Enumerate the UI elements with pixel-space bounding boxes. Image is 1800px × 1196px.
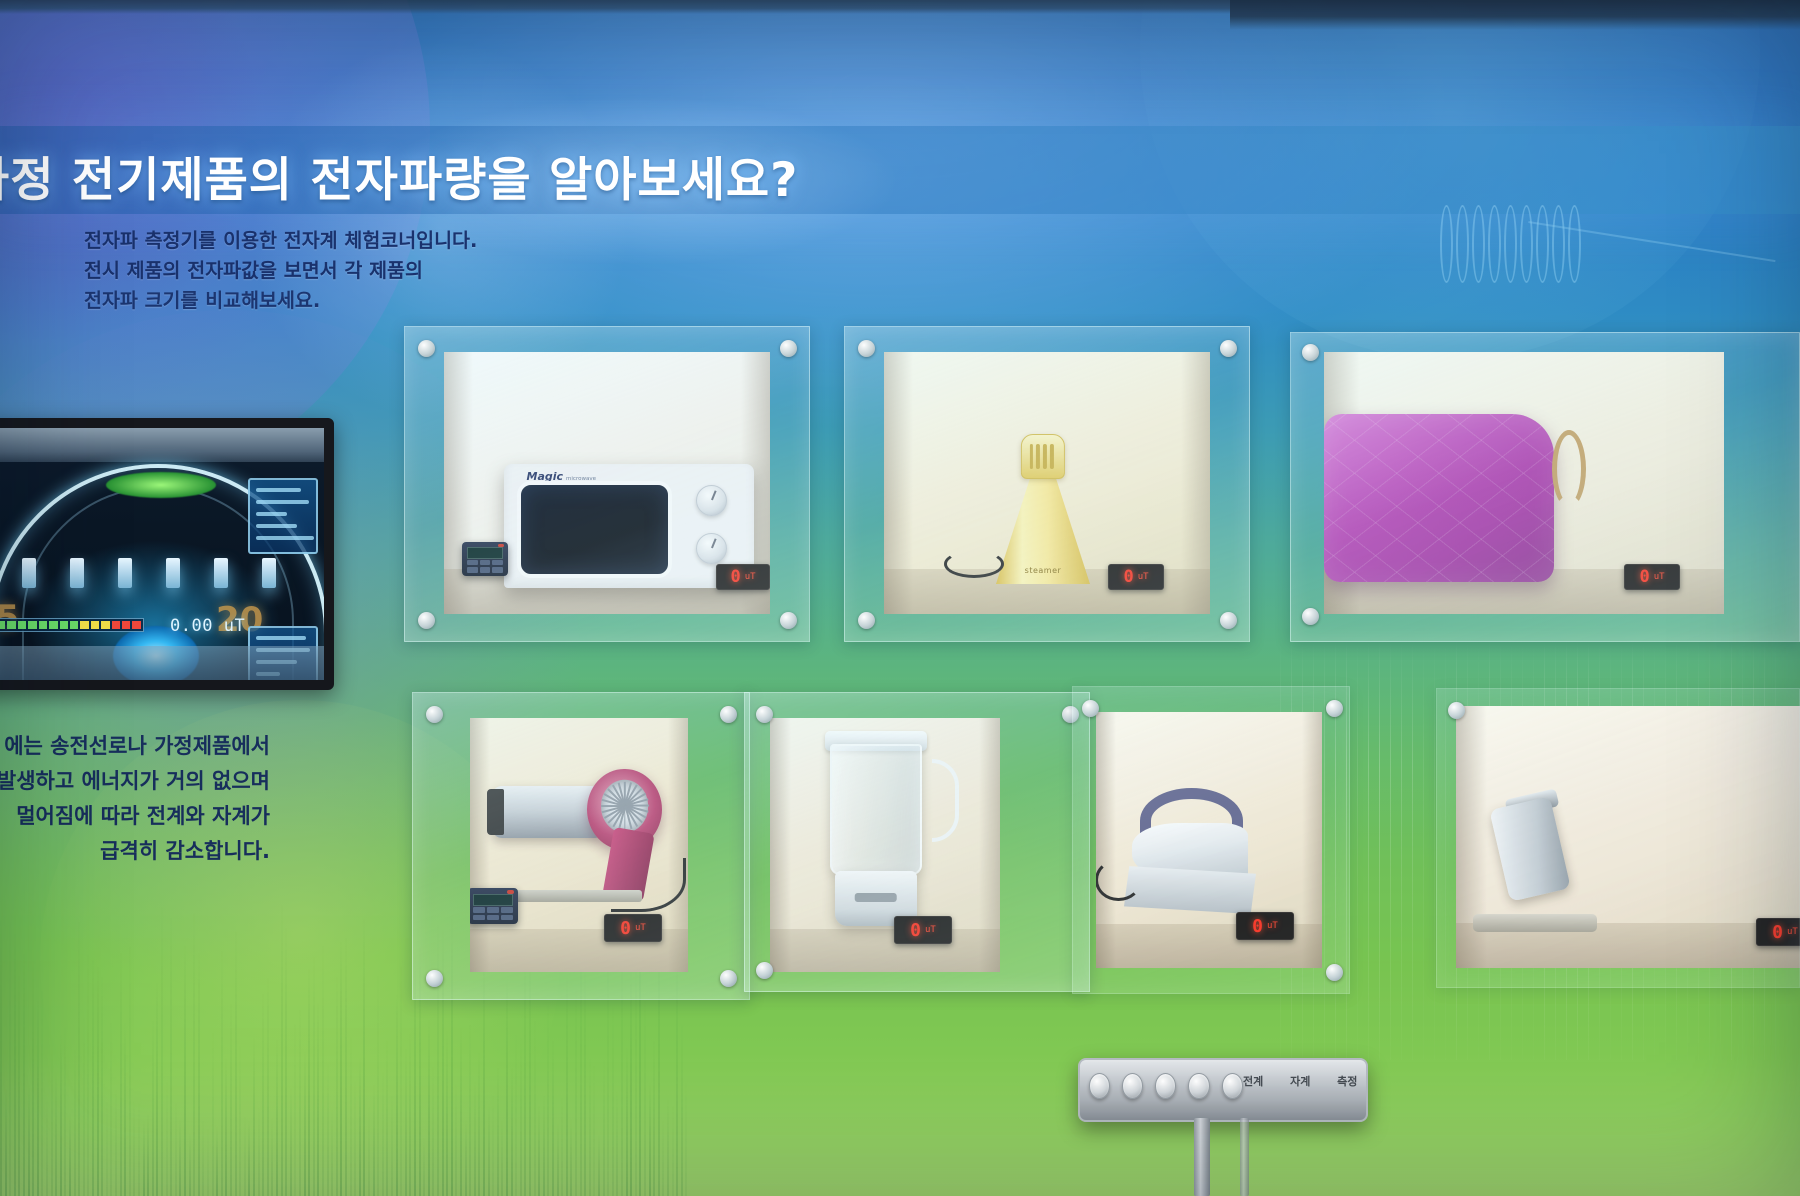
panel-bolt — [418, 340, 435, 357]
panel-bolt — [756, 706, 773, 723]
led-meter-shaver: 0 uT — [1756, 918, 1800, 946]
panel-bolt — [1302, 608, 1319, 625]
led-unit: uT — [925, 925, 936, 935]
note-line-1: 에는 송전선로나 가정제품에서 — [0, 729, 270, 764]
panel-bolt — [780, 340, 797, 357]
led-unit: uT — [1267, 921, 1278, 931]
intro-text: 전자파 측정기를 이용한 전자계 체험코너입니다. 전시 제품의 전자파값을 보… — [84, 226, 477, 316]
led-meter-blender: 0 uT — [894, 916, 952, 944]
niche-purple-bag: 0 uT — [1324, 352, 1724, 614]
panel-bolt — [1302, 344, 1319, 361]
monitor-screen: 25 20 0.00 uT — [0, 428, 324, 680]
led-unit: uT — [1138, 572, 1149, 582]
led-value: 0 — [1772, 922, 1783, 943]
led-value: 0 — [620, 918, 631, 939]
monitor-level-bar — [0, 618, 144, 632]
shaver-body — [1489, 796, 1571, 901]
console-label-2: 자계 — [1290, 1073, 1310, 1089]
led-unit: uT — [1787, 927, 1798, 937]
dryer-nozzle — [487, 789, 504, 835]
monitor-scene-floor — [0, 646, 324, 680]
note-line-4: 급격히 감소합니다. — [0, 834, 270, 869]
dryer-fan-grill — [601, 780, 649, 832]
video-monitor[interactable]: 25 20 0.00 uT — [0, 418, 334, 690]
handheld-emf-meter[interactable] — [470, 888, 518, 924]
led-meter-iron: 0 uT — [1236, 912, 1294, 940]
console-label-1: 전계 — [1243, 1073, 1263, 1089]
niche-iron: 0 uT — [1096, 712, 1322, 968]
led-meter-microwave: 0 uT — [716, 564, 770, 590]
niche-steamer: steamer 0 uT — [884, 352, 1210, 614]
intro-line-1: 전자파 측정기를 이용한 전자계 체험코너입니다. — [84, 226, 477, 256]
panel-bolt — [1220, 340, 1237, 357]
console-button-4[interactable] — [1188, 1073, 1209, 1099]
panel-bolt — [1082, 700, 1099, 717]
meter-buttons[interactable] — [467, 560, 504, 573]
ceiling-strip-right — [1230, 0, 1800, 30]
blender — [820, 744, 944, 926]
led-meter-steamer: 0 uT — [1108, 564, 1164, 590]
monitor-scene-ceiling — [0, 428, 324, 462]
led-value: 0 — [1252, 916, 1263, 937]
microwave-power-knob[interactable] — [696, 485, 727, 516]
hair-dryer — [492, 766, 662, 894]
purple-quilted-bag — [1324, 414, 1554, 582]
monitor-green-light — [106, 472, 216, 498]
panel-bolt — [1326, 964, 1343, 981]
niche-blender: 0 uT — [770, 718, 1000, 972]
note-line-2: 발생하고 에너지가 거의 없으며 — [0, 764, 270, 799]
blender-jar — [830, 744, 922, 875]
panel-bolt — [426, 706, 443, 723]
meter-screen — [467, 547, 504, 559]
panel-bolt — [1220, 612, 1237, 629]
garment-steamer: steamer — [996, 434, 1090, 584]
panel-bolt — [1448, 702, 1465, 719]
monitor-light-bars — [22, 558, 302, 598]
console-button-5[interactable] — [1222, 1073, 1243, 1099]
meter-screen — [473, 894, 513, 906]
panel-bolt — [780, 612, 797, 629]
panel-bolt — [858, 340, 875, 357]
niche-microwave: Magicmicrowave 0 uT — [444, 352, 770, 614]
console-label-3: 측정 — [1337, 1073, 1357, 1089]
panel-bolt — [426, 970, 443, 987]
monitor-hud-top — [248, 478, 318, 554]
console-button-2[interactable] — [1122, 1073, 1143, 1099]
console-support-post — [1194, 1118, 1210, 1196]
monitor-readout: 0.00 uT — [170, 616, 245, 636]
led-value: 0 — [1639, 567, 1649, 587]
bag-handle — [1552, 430, 1586, 508]
led-meter-dryer: 0 uT — [604, 914, 662, 942]
led-meter-bag: 0 uT — [1624, 564, 1680, 590]
console-labels: 전계 자계 측정 — [1243, 1073, 1357, 1089]
led-value: 0 — [1123, 567, 1133, 587]
note-line-3: 멀어짐에 따라 전계와 자계가 — [0, 799, 270, 834]
note-text: 에는 송전선로나 가정제품에서 발생하고 에너지가 거의 없으며 멀어짐에 따라… — [0, 729, 270, 869]
monitor-readout-unit: uT — [224, 616, 245, 636]
iron-soleplate — [1124, 866, 1256, 914]
console-button-1[interactable] — [1089, 1073, 1110, 1099]
console-support-post-2 — [1240, 1118, 1249, 1196]
niche-floor — [770, 929, 1000, 972]
led-value: 0 — [910, 920, 921, 941]
meter-buttons[interactable] — [473, 907, 513, 921]
led-value: 0 — [730, 567, 740, 587]
electric-shaver — [1470, 802, 1600, 932]
panel-bolt — [720, 706, 737, 723]
panel-bolt — [858, 612, 875, 629]
dryer-barrel — [492, 786, 601, 837]
steamer-body: steamer — [996, 473, 1090, 584]
monitor-readout-value: 0.00 — [170, 616, 213, 636]
steamer-label: steamer — [1025, 566, 1062, 575]
panel-bolt — [418, 612, 435, 629]
console-button-row[interactable] — [1089, 1070, 1243, 1104]
niche-hair-dryer: 0 uT — [470, 718, 688, 972]
console-button-3[interactable] — [1155, 1073, 1176, 1099]
panel-bolt — [1326, 700, 1343, 717]
led-unit: uT — [1654, 572, 1665, 582]
panel-bolt — [756, 962, 773, 979]
niche-shaver: 0 uT — [1456, 706, 1800, 968]
dryer-stand — [512, 890, 641, 902]
intro-line-2: 전시 제품의 전자파값을 보면서 각 제품의 — [84, 256, 477, 286]
led-unit: uT — [635, 923, 646, 933]
steamer-head — [1021, 434, 1065, 479]
exhibit-photo: 가정 전기제품의 전자파량을 알아보세요? 전자파 측정기를 이용한 전자계 체… — [0, 0, 1800, 1196]
intro-line-3: 전자파 크기를 비교해보세요. — [84, 286, 477, 316]
panel-bolt — [720, 970, 737, 987]
led-unit: uT — [745, 572, 756, 582]
microwave-timer-knob[interactable] — [696, 533, 727, 564]
panel-bolt — [1062, 706, 1079, 723]
microwave-door — [517, 481, 672, 578]
steam-iron — [1124, 788, 1256, 914]
page-title: 가정 전기제품의 전자파량을 알아보세요? — [0, 141, 798, 210]
handheld-emf-meter[interactable] — [462, 542, 508, 576]
steamer-power-cord — [944, 550, 1004, 578]
visitor-control-console[interactable]: 전계 자계 측정 — [1078, 1058, 1368, 1122]
bag-quilt-pattern — [1324, 414, 1554, 582]
shaver-stand — [1473, 914, 1598, 932]
